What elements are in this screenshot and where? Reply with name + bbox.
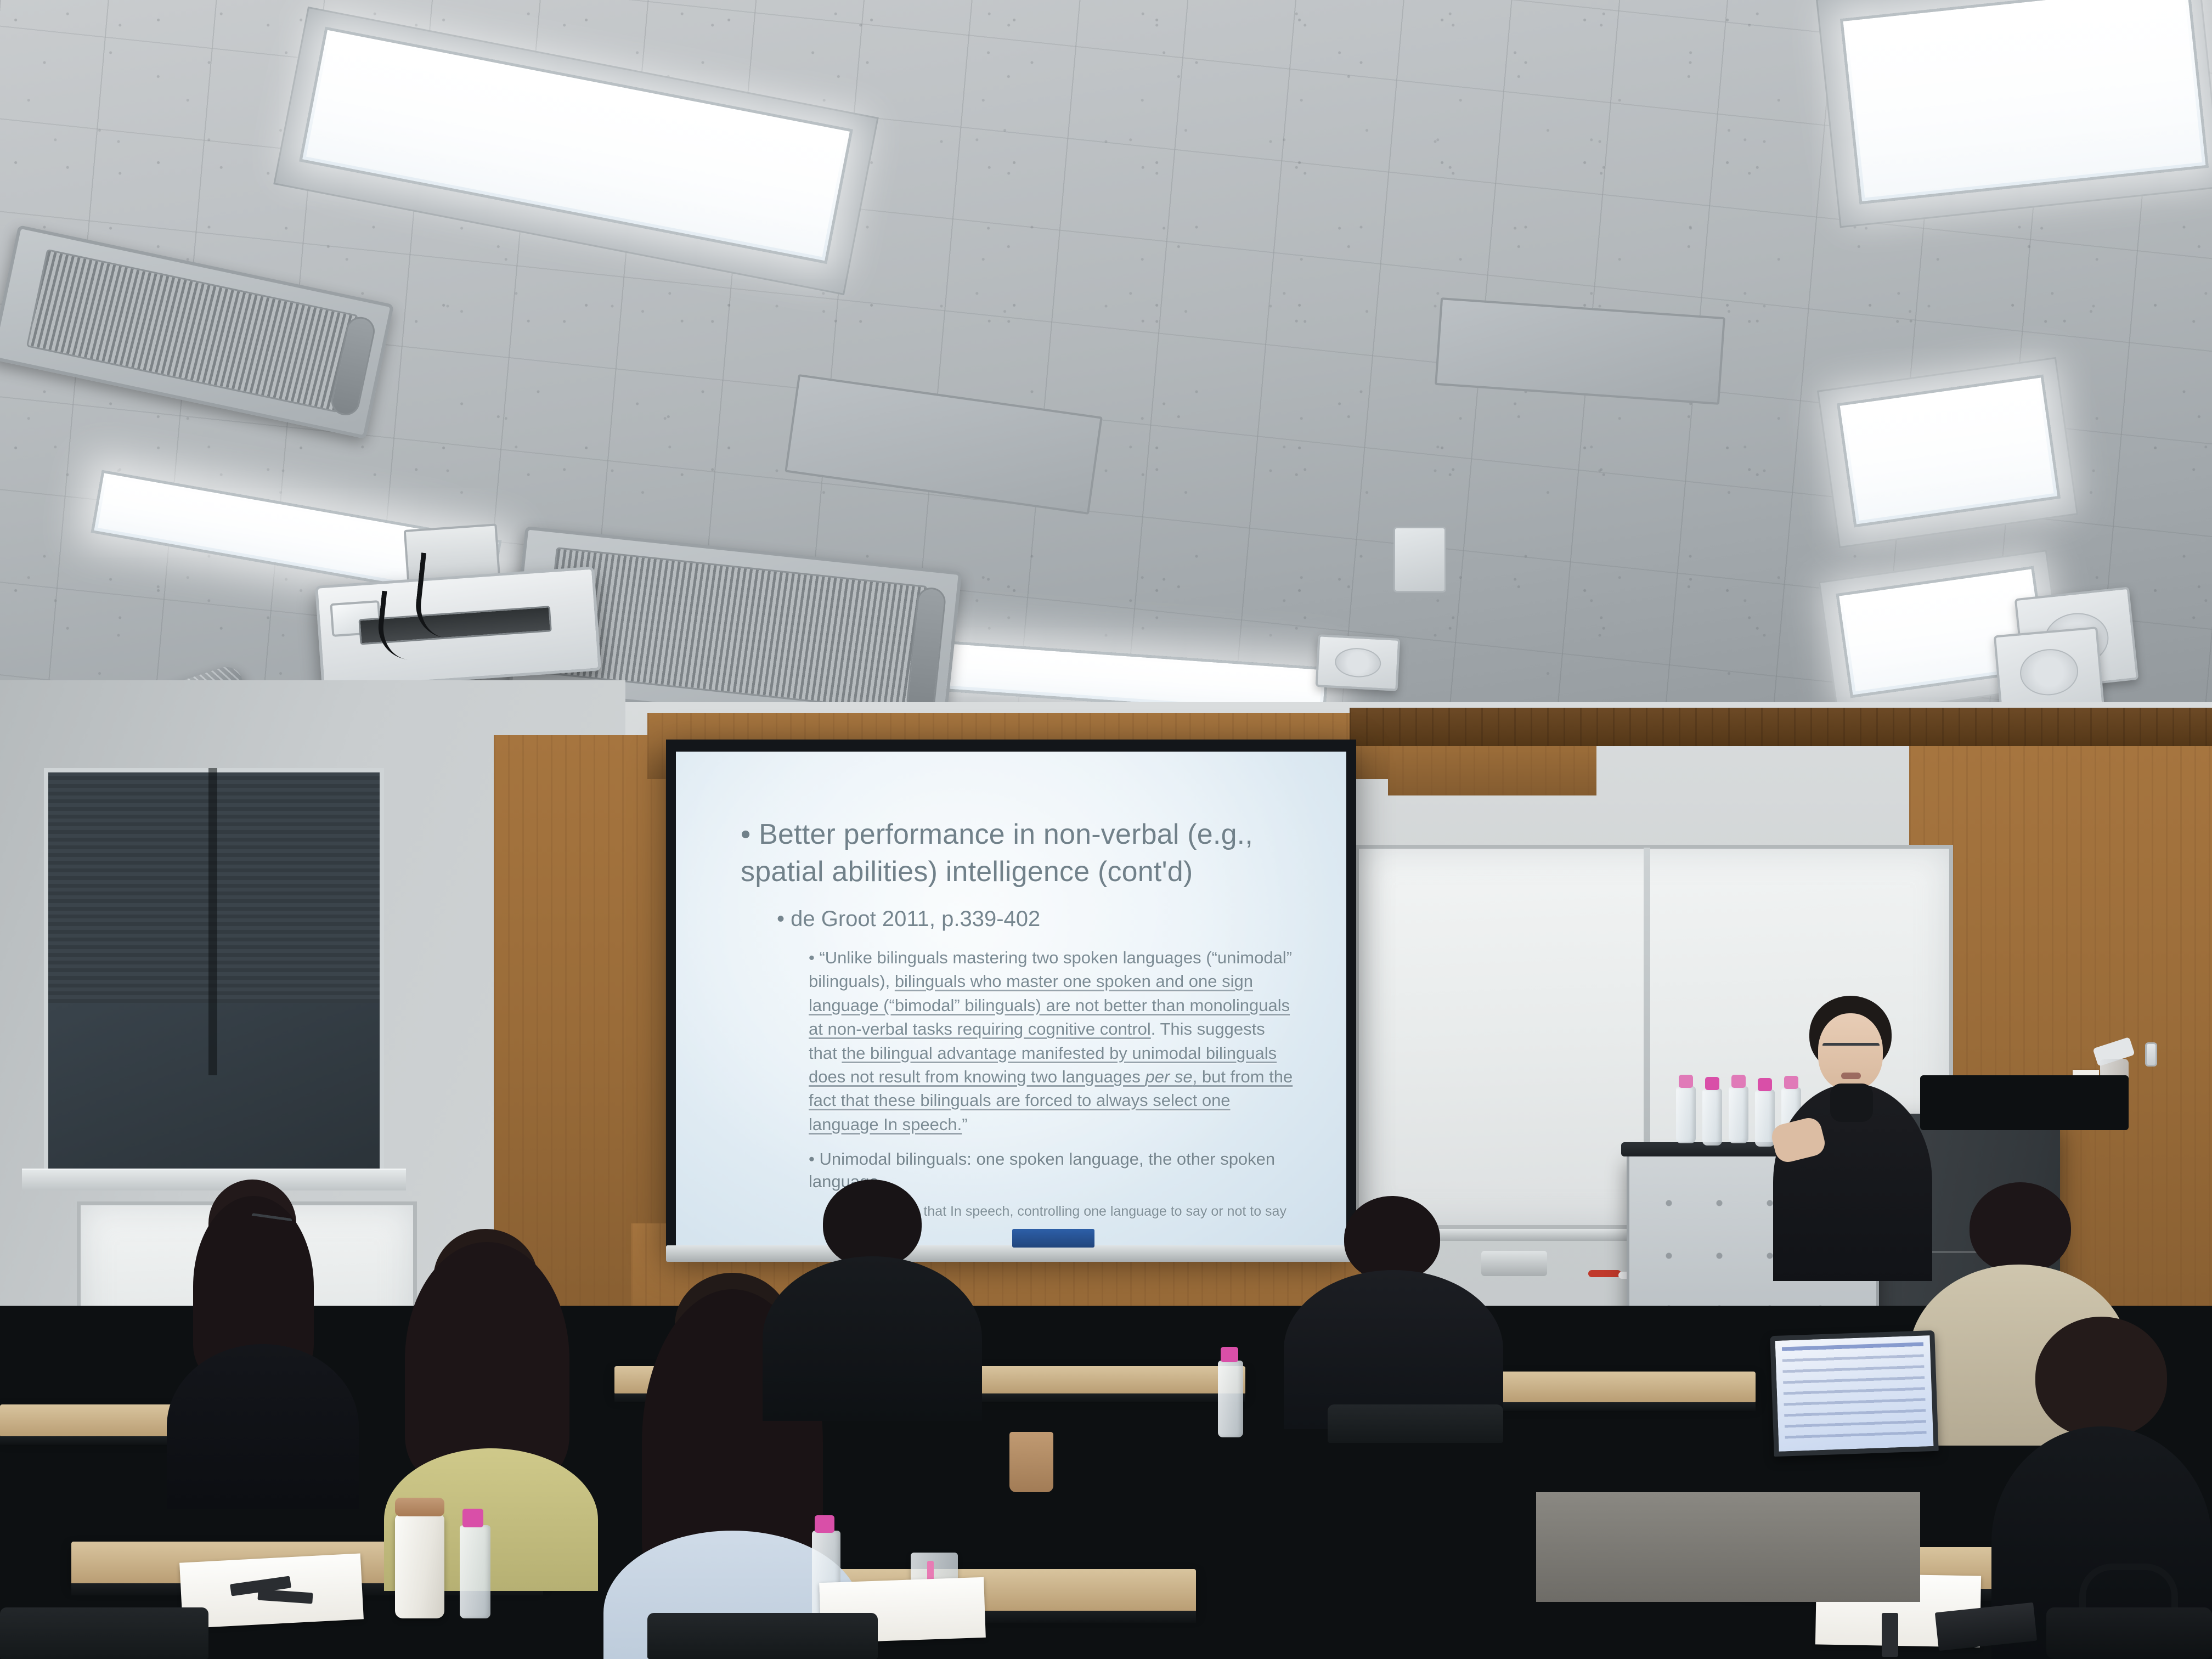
attendee-head bbox=[1344, 1196, 1440, 1281]
water-bottle[interactable] bbox=[1702, 1088, 1722, 1145]
bottle-cap bbox=[1731, 1075, 1746, 1088]
chair[interactable] bbox=[0, 1607, 208, 1659]
wood-wall-panel-dark bbox=[1350, 708, 2212, 746]
chair[interactable] bbox=[647, 1613, 878, 1659]
lecture-hall-photo: Better performance in non-verbal (e.g., … bbox=[0, 0, 2212, 1659]
slide-bullet-level1: Better performance in non-verbal (e.g., … bbox=[741, 816, 1294, 890]
bottle-cap bbox=[1221, 1347, 1238, 1362]
laptop[interactable] bbox=[1770, 1330, 1938, 1457]
water-bottle[interactable] bbox=[1676, 1086, 1696, 1143]
attendee-head bbox=[1970, 1182, 2071, 1273]
attendee-suit bbox=[1284, 1196, 1503, 1426]
slide-bullet-level3-quote: “Unlike bilinguals mastering two spoken … bbox=[809, 946, 1294, 1136]
attendee-torso bbox=[763, 1256, 982, 1421]
quote-close: ” bbox=[962, 1115, 967, 1134]
projector bbox=[315, 566, 601, 690]
bottle-cap bbox=[815, 1515, 834, 1533]
attendee-hair bbox=[405, 1242, 569, 1478]
floor bbox=[1536, 1492, 1920, 1602]
bottle-cap bbox=[1705, 1077, 1719, 1090]
attendee-head bbox=[823, 1180, 922, 1267]
bottle-cap bbox=[462, 1509, 483, 1527]
light-switch[interactable] bbox=[2145, 1042, 2157, 1066]
quote-italic-per-se: per se bbox=[1145, 1067, 1192, 1086]
chair[interactable] bbox=[1328, 1404, 1503, 1443]
slide-bullet-level2: de Groot 2011, p.339-402 bbox=[777, 905, 1294, 934]
water-bottle[interactable] bbox=[1218, 1361, 1243, 1437]
handbag[interactable] bbox=[2046, 1607, 2212, 1659]
presenter-neck-top bbox=[1830, 1084, 1873, 1122]
ceiling-sensor bbox=[1393, 527, 1446, 592]
presenter-glasses bbox=[1822, 1043, 1880, 1051]
bottle-cap bbox=[1679, 1075, 1693, 1088]
presenter-mouth bbox=[1841, 1073, 1861, 1079]
attendee-center-dark bbox=[763, 1180, 982, 1415]
lectern-top-monitor bbox=[1920, 1075, 2129, 1130]
water-bottle[interactable] bbox=[460, 1525, 490, 1618]
pen[interactable] bbox=[1882, 1613, 1898, 1657]
whiteboard-marker-red bbox=[1588, 1270, 1621, 1277]
attendee-head bbox=[2035, 1317, 2167, 1437]
coffee-cup[interactable] bbox=[1009, 1432, 1053, 1492]
blue-book bbox=[1012, 1229, 1094, 1248]
attendee-yellow-top bbox=[379, 1229, 598, 1536]
presentation-slide: Better performance in non-verbal (e.g., … bbox=[676, 752, 1346, 1246]
tumbler-lid bbox=[395, 1498, 444, 1516]
bag-handle bbox=[2079, 1564, 2178, 1613]
attendee-torso bbox=[167, 1344, 359, 1509]
water-bottle[interactable] bbox=[1729, 1086, 1748, 1143]
projection-screen: Better performance in non-verbal (e.g., … bbox=[676, 752, 1346, 1246]
tumbler[interactable] bbox=[395, 1514, 444, 1618]
window-frame-mullion bbox=[208, 768, 217, 1075]
ceiling-speaker bbox=[1316, 634, 1401, 691]
laptop-document bbox=[1782, 1342, 1927, 1445]
attendee-left-glasses bbox=[165, 1180, 362, 1465]
